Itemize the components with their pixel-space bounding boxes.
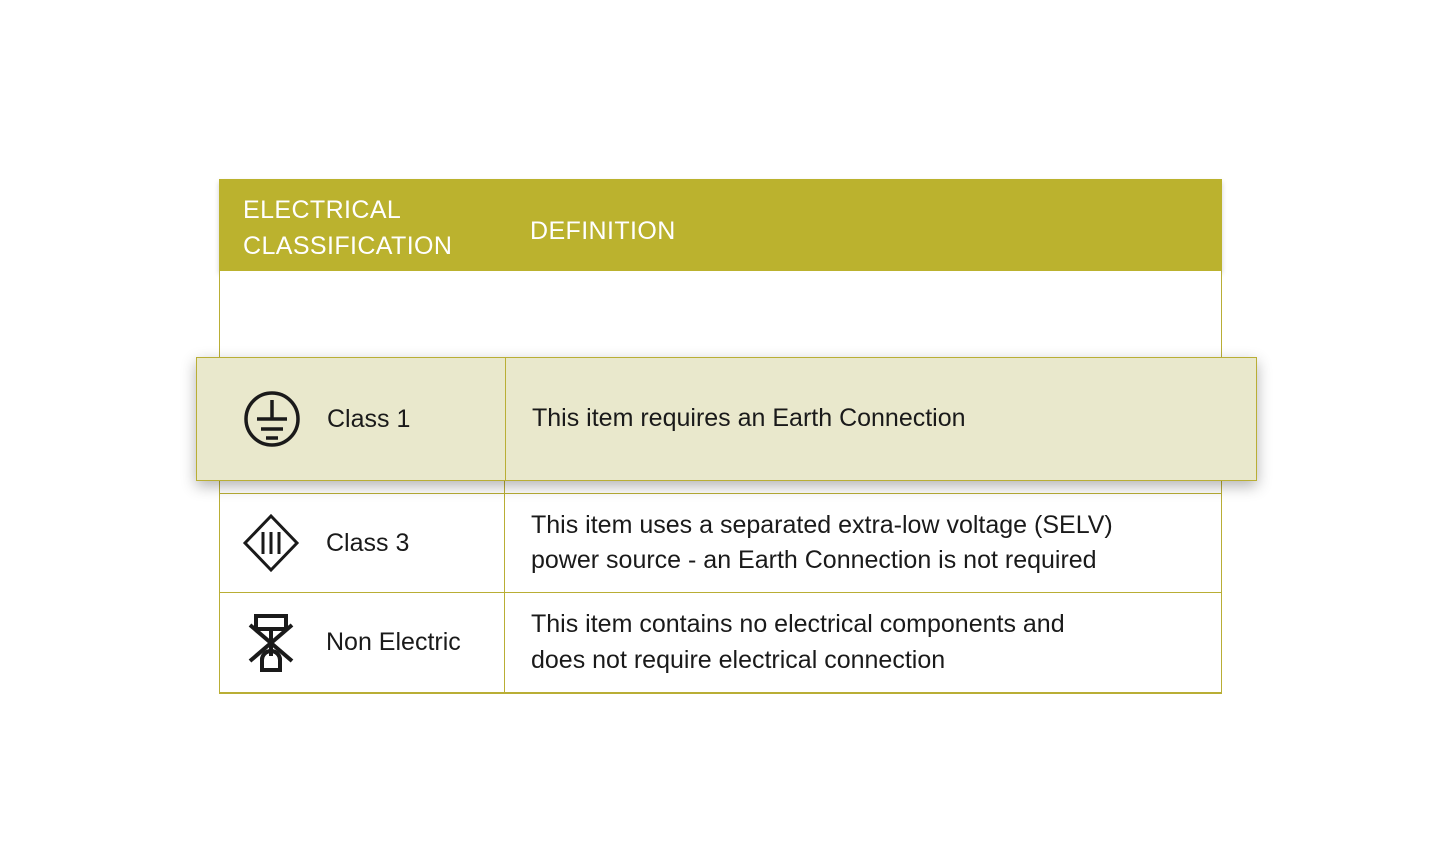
earth-connection-icon <box>243 388 301 450</box>
cell-classification: Class 3 <box>220 494 505 592</box>
classification-label: Class 1 <box>327 405 410 434</box>
non-electric-crossed-plug-icon <box>242 612 300 674</box>
cell-definition: This item uses a separated extra-low vol… <box>505 494 1221 592</box>
definition-line-2: power source - an Earth Connection is no… <box>531 543 1113 579</box>
table-header-row: ELECTRICAL CLASSIFICATION DEFINITION <box>219 179 1222 271</box>
definition-line-2: does not require electrical connection <box>531 643 1065 679</box>
definition-text: This item requires an Earth Connection <box>532 401 966 437</box>
cell-definition: This item contains no electrical compone… <box>505 593 1221 692</box>
electrical-classification-table: ELECTRICAL CLASSIFICATION DEFINITION Cla… <box>219 179 1222 694</box>
table-row[interactable]: Non Electric This item contains no elect… <box>220 593 1221 693</box>
definition-line-1: This item uses a separated extra-low vol… <box>531 511 1113 539</box>
classification-label: Class 3 <box>326 529 409 558</box>
table-body: Class 2 This item is Double Insulated an… <box>219 271 1222 694</box>
cell-definition: This item requires an Earth Connection <box>506 358 1256 480</box>
selv-diamond-icon <box>242 512 300 574</box>
definition-line-1: This item contains no electrical compone… <box>531 610 1065 638</box>
definition-text: This item contains no electrical compone… <box>531 607 1065 678</box>
definition-line-1: This item requires an Earth Connection <box>532 404 966 432</box>
column-header-electrical-classification: ELECTRICAL CLASSIFICATION <box>243 193 513 264</box>
column-header-definition: DEFINITION <box>530 214 676 250</box>
table-row[interactable]: Class 3 This item uses a separated extra… <box>220 494 1221 593</box>
cell-classification: Class 1 <box>197 358 506 480</box>
definition-text: This item uses a separated extra-low vol… <box>531 508 1113 579</box>
classification-label: Non Electric <box>326 628 461 657</box>
column-header-line-2: CLASSIFICATION <box>243 229 513 265</box>
table-row-selected[interactable]: Class 1 This item requires an Earth Conn… <box>196 357 1257 481</box>
column-header-line-1: ELECTRICAL <box>243 196 401 224</box>
cell-classification: Non Electric <box>220 593 505 692</box>
